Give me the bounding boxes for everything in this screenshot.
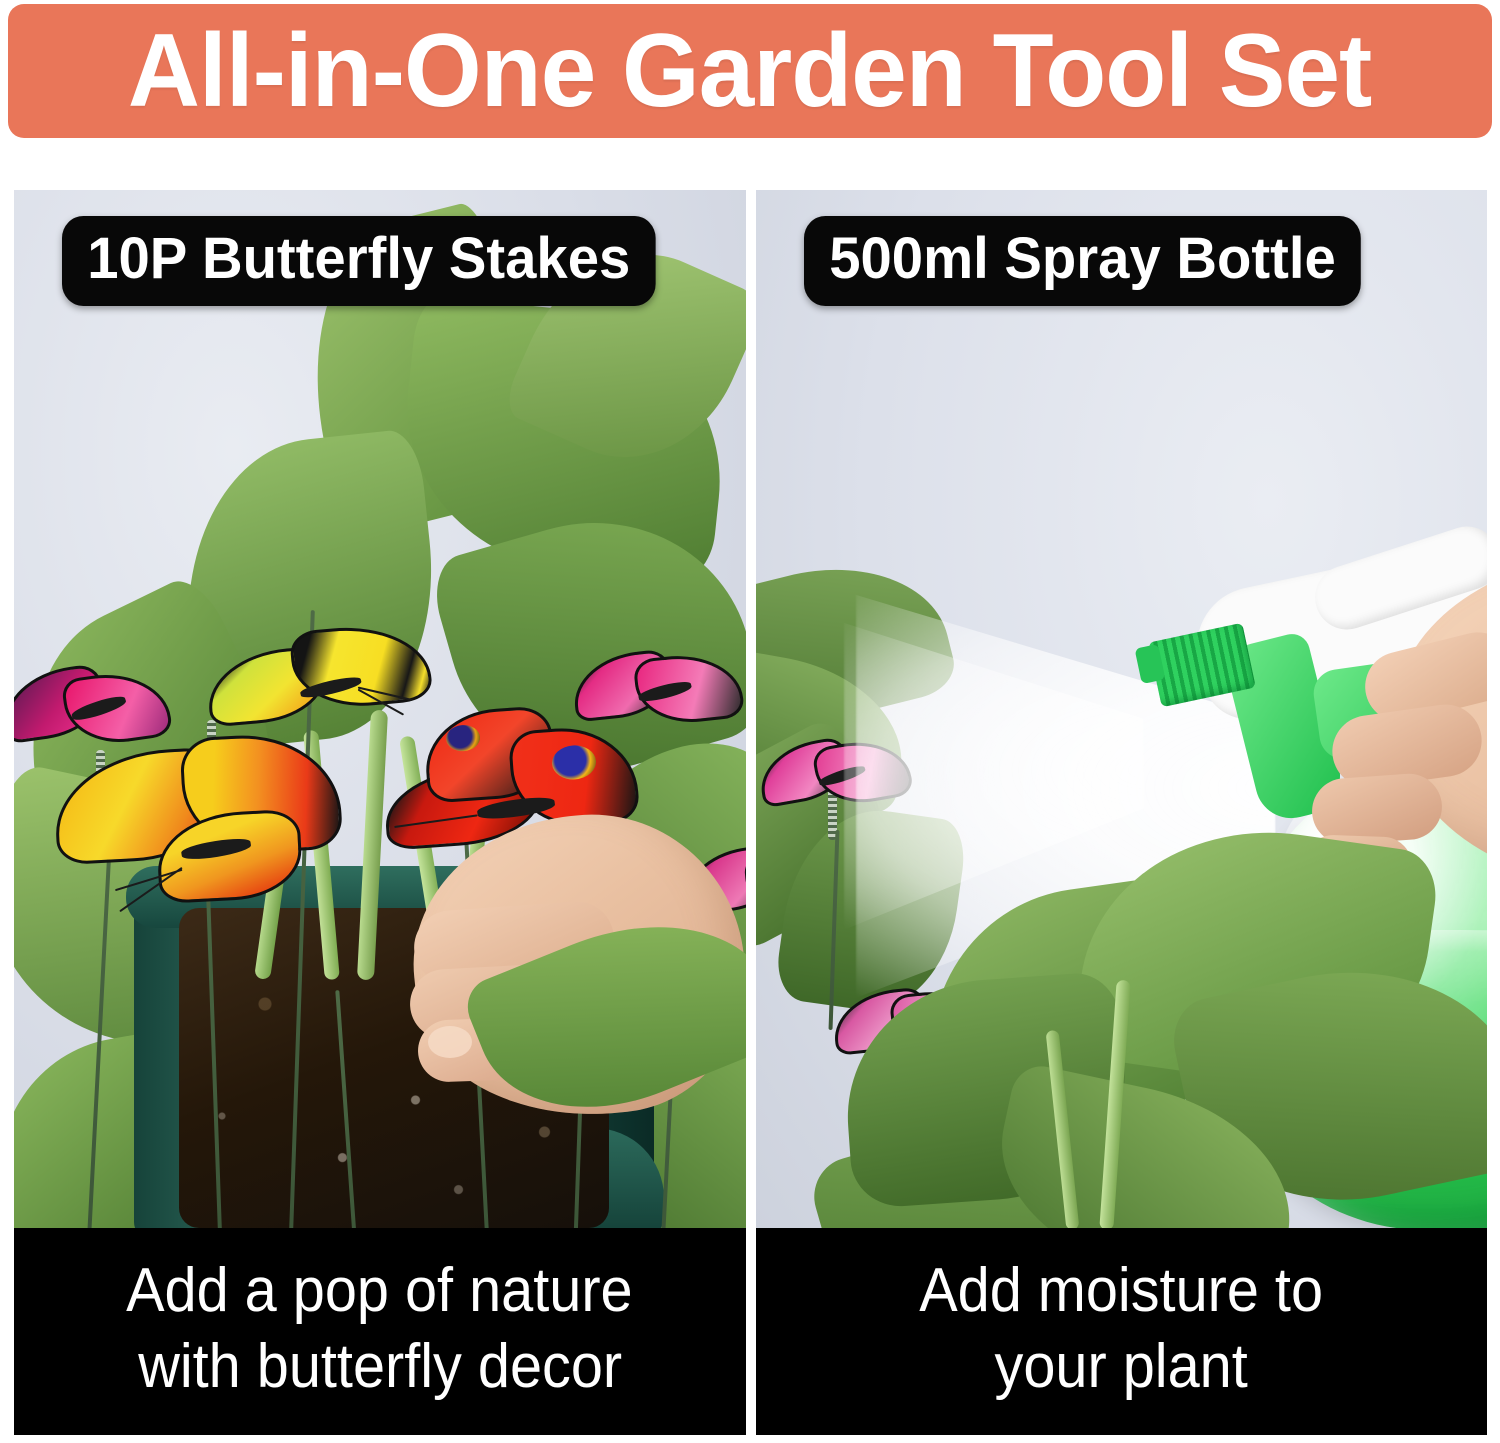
caption-butterfly-stakes: Add a pop of nature with butterfly decor — [14, 1228, 746, 1435]
feature-panels: 10P Butterfly Stakes Add a pop of nature… — [14, 190, 1487, 1435]
spray-bottle-photo: 500ml Spray Bottle — [756, 190, 1488, 1228]
caption-line-1: Add moisture to — [919, 1253, 1323, 1329]
panel-label-spray-bottle: 500ml Spray Bottle — [804, 216, 1361, 306]
panel-butterfly-stakes: 10P Butterfly Stakes Add a pop of nature… — [14, 190, 746, 1435]
header-banner: All-in-One Garden Tool Set — [8, 4, 1492, 138]
page-title: All-in-One Garden Tool Set — [128, 19, 1371, 123]
caption-line-2: your plant — [995, 1329, 1248, 1405]
fingernail — [428, 1026, 472, 1058]
caption-line-1: Add a pop of nature — [126, 1253, 633, 1329]
butterfly-stake — [51, 731, 340, 925]
panel-label-butterfly-stakes: 10P Butterfly Stakes — [62, 216, 656, 306]
butterfly-stakes-photo: 10P Butterfly Stakes — [14, 190, 746, 1228]
caption-line-2: with butterfly decor — [138, 1329, 622, 1405]
caption-spray-bottle: Add moisture to your plant — [756, 1228, 1488, 1435]
panel-spray-bottle: 500ml Spray Bottle Add moisture to your … — [756, 190, 1488, 1435]
